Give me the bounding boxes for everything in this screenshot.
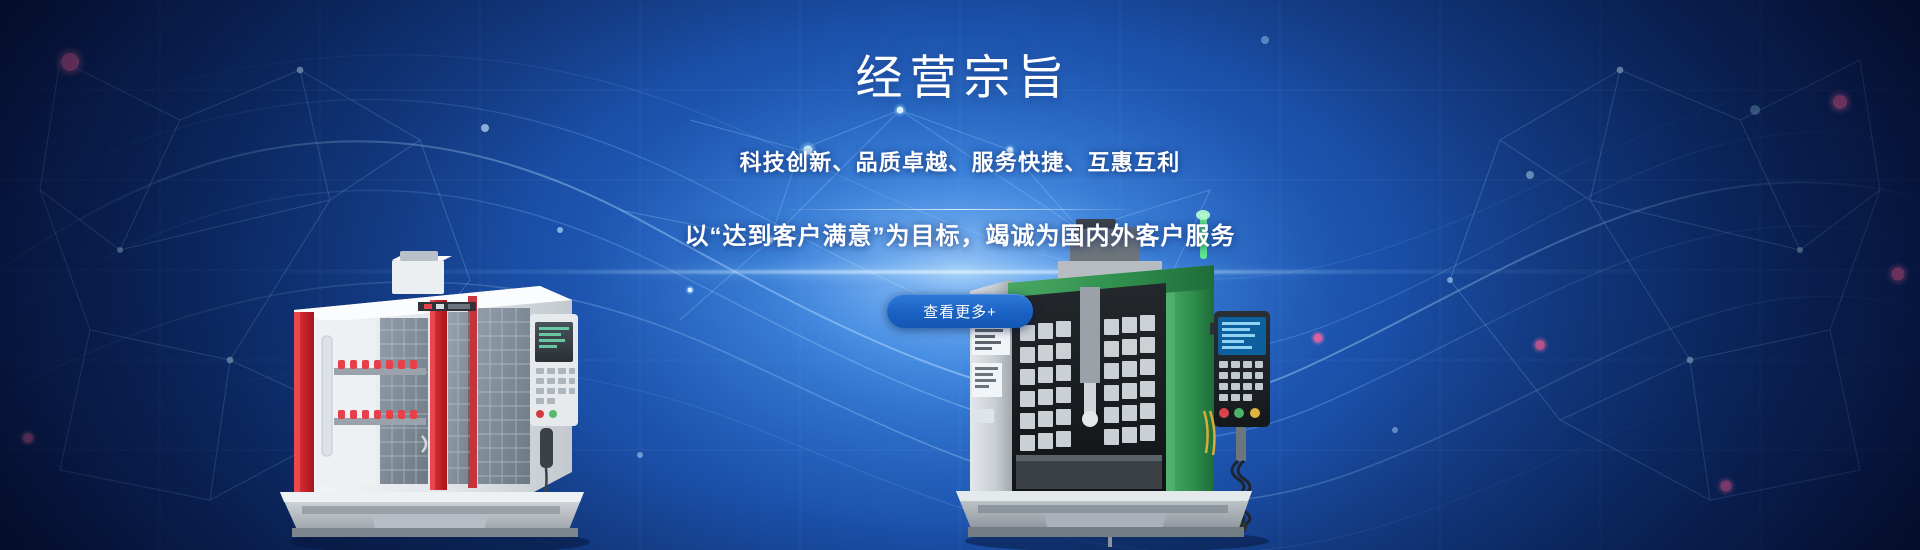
banner-content: 经营宗旨 科技创新、品质卓越、服务快捷、互惠互利 以“达到客户满意”为目标，竭诚… <box>0 22 1920 328</box>
promo-banner: 经营宗旨 科技创新、品质卓越、服务快捷、互惠互利 以“达到客户满意”为目标，竭诚… <box>0 0 1920 550</box>
banner-tagline: 以“达到客户满意”为目标，竭诚为国内外客户服务 <box>685 222 1236 252</box>
view-more-button[interactable]: 查看更多+ <box>887 294 1033 328</box>
page-title: 经营宗旨 <box>849 53 1072 104</box>
banner-subtitle: 科技创新、品质卓越、服务快捷、互惠互利 <box>740 150 1181 176</box>
title-divider <box>788 209 1132 210</box>
